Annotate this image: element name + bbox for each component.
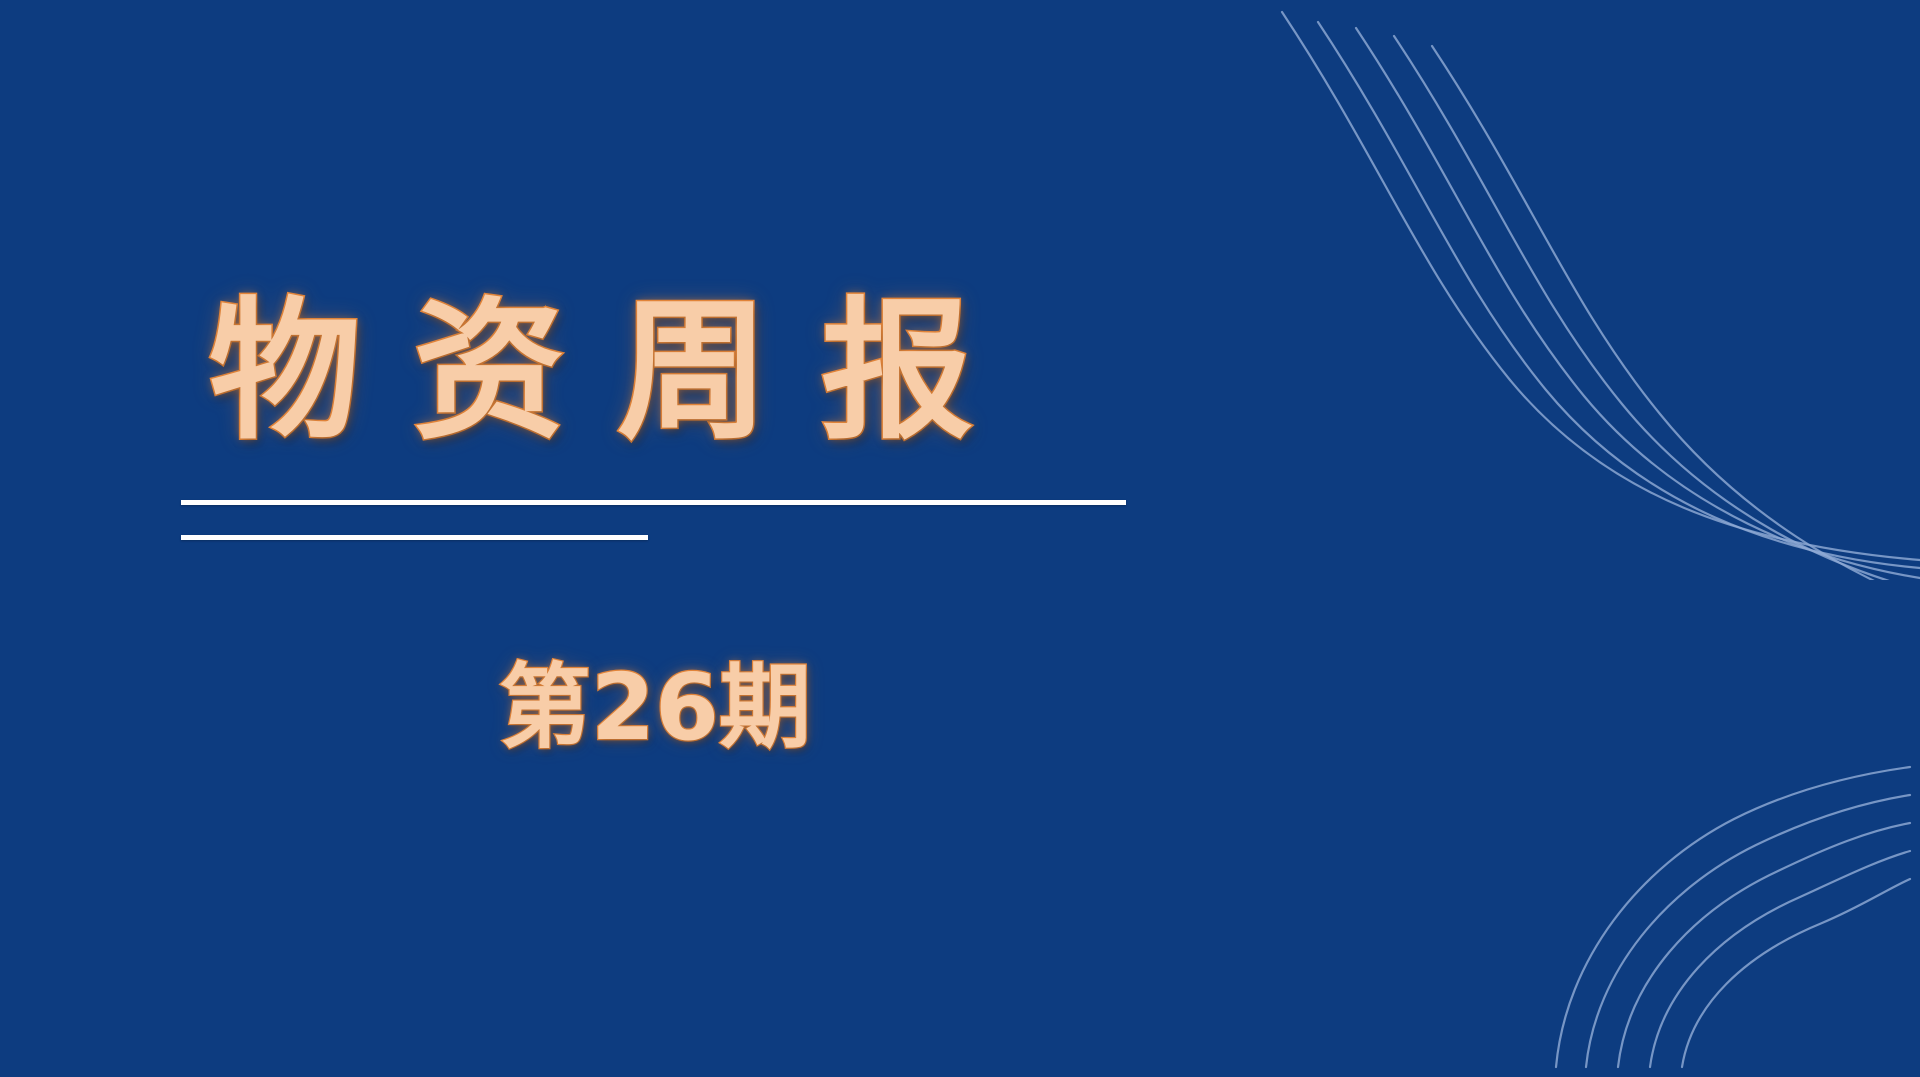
title-underline-long: [181, 500, 1126, 505]
bottom-right-curve-svg: [1480, 727, 1920, 1077]
title-block: 物资周报: [181, 296, 1181, 448]
curve-line-2: [1318, 22, 1920, 568]
decorative-curves-bottom-right: [1480, 727, 1920, 1077]
curve-line-5: [1432, 46, 1920, 580]
arc-line-3: [1618, 823, 1910, 1067]
arc-line-4: [1650, 851, 1910, 1067]
arc-line-5: [1682, 879, 1910, 1067]
curve-line-3: [1356, 28, 1920, 578]
decorative-curves-top-right: [1260, 0, 1920, 580]
cover-slide: 物资周报 第26期: [0, 0, 1920, 1077]
page-title: 物资周报: [181, 296, 1181, 448]
arc-line-2: [1586, 795, 1910, 1067]
title-underline-short: [181, 535, 648, 540]
curve-line-1: [1282, 12, 1920, 560]
arc-line-1: [1556, 767, 1910, 1067]
top-right-curve-svg: [1260, 0, 1920, 580]
curve-line-4: [1394, 36, 1920, 580]
issue-number-subtitle: 第26期: [0, 650, 1310, 765]
